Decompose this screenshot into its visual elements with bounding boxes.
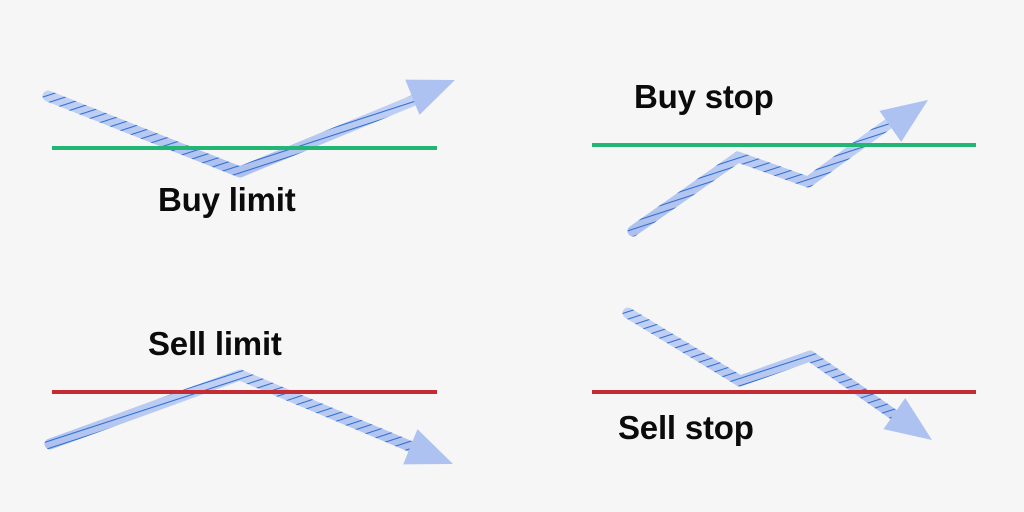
panel-buy-stop <box>592 100 976 231</box>
panel-label-sell-stop: Sell stop <box>618 411 754 444</box>
buy-limit-price-path-hatch <box>48 92 434 172</box>
diagram-canvas: Buy limit Buy stop Sell limit Sell stop <box>0 0 1024 512</box>
sell-limit-price-path-hatch <box>50 375 426 453</box>
buy-stop-price-path-hatch <box>633 111 906 231</box>
panel-label-buy-limit: Buy limit <box>158 183 296 216</box>
sell-limit-price-path-band <box>50 375 426 453</box>
order-types-diagram <box>0 0 1024 512</box>
buy-limit-arrow-head <box>405 80 455 115</box>
panel-label-buy-stop: Buy stop <box>634 80 774 113</box>
buy-limit-price-path-band <box>48 92 434 172</box>
panel-sell-limit <box>50 375 453 464</box>
sell-limit-arrow-head <box>403 429 453 464</box>
panel-label-sell-limit: Sell limit <box>148 327 282 360</box>
buy-stop-arrow-head <box>879 100 928 142</box>
panel-buy-limit <box>48 80 455 172</box>
sell-stop-price-path-hatch <box>628 313 907 424</box>
sell-stop-arrow-head <box>883 398 932 440</box>
